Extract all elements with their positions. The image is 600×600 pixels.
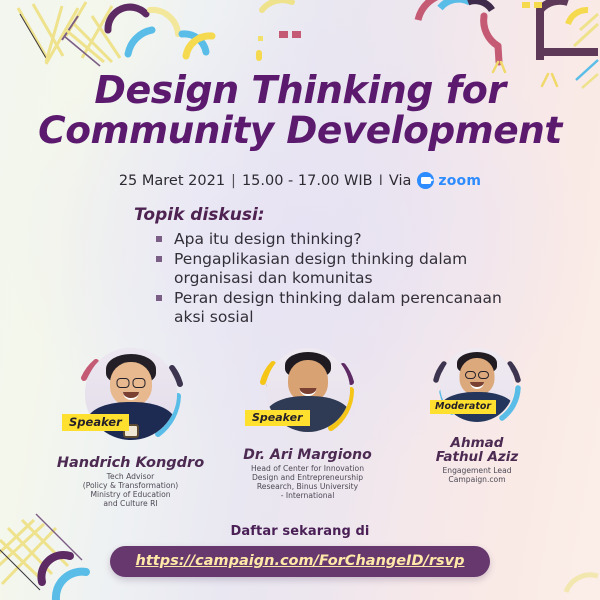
speaker-role-tag-2: Speaker <box>245 410 310 426</box>
topics-heading: Topik diskusi: <box>134 205 514 225</box>
topics-list: Apa itu design thinking? Pengaplikasian … <box>156 230 514 327</box>
datetime-separator-2: I <box>379 173 383 189</box>
speakers-section: Speaker Handrich Kongdro Tech Advisor (P… <box>0 338 600 509</box>
poster-title: Design Thinking for Community Developmen… <box>0 72 600 149</box>
moderator-role: Engagement Lead Campaign.com <box>402 467 552 485</box>
speaker-role-line: and Culture RI <box>48 500 213 509</box>
cta-section: Daftar sekarang di https://campaign.com/… <box>0 524 600 577</box>
moderator-name-line-1: Ahmad <box>402 436 552 450</box>
speaker-photo-wrap-2: Speaker <box>225 338 390 442</box>
speaker-role-2: Head of Center for Innovation Design and… <box>225 465 390 501</box>
zoom-camera-icon <box>417 172 434 189</box>
speaker-photo-wrap-1: Speaker <box>48 338 213 450</box>
moderator-photo-wrap: Moderator <box>402 338 552 430</box>
moderator-name: Ahmad Fathul Aziz <box>402 436 552 465</box>
event-time: 15.00 - 17.00 WIB <box>242 173 373 189</box>
cta-label: Daftar sekarang di <box>0 524 600 539</box>
moderator-role-line: Campaign.com <box>402 476 552 485</box>
speaker-name-1: Handrich Kongdro <box>48 456 213 471</box>
topic-text: Pengaplikasian design thinking dalam org… <box>174 250 467 287</box>
speaker-card-2: Speaker Dr. Ari Margiono Head of Center … <box>225 338 390 501</box>
speaker-role-1: Tech Advisor (Policy & Transformation) M… <box>48 473 213 509</box>
bullet-square-icon <box>156 236 162 242</box>
registration-url-button[interactable]: https://campaign.com/ForChangeID/rsvp <box>110 546 491 577</box>
event-datetime-bar: 25 Maret 2021 | 15.00 - 17.00 WIB I Via … <box>0 172 600 189</box>
topic-text: Apa itu design thinking? <box>174 230 362 248</box>
topics-section: Topik diskusi: Apa itu design thinking? … <box>134 205 514 328</box>
topic-item: Peran design thinking dalam perencanaan … <box>156 289 514 327</box>
poster-canvas: Design Thinking for Community Developmen… <box>0 0 600 600</box>
via-label: Via <box>389 173 412 189</box>
bullet-square-icon <box>156 295 162 301</box>
speaker-role-line: - International <box>225 492 390 501</box>
speaker-name-2: Dr. Ari Margiono <box>225 448 390 463</box>
topic-item: Pengaplikasian design thinking dalam org… <box>156 250 514 288</box>
moderator-card: Moderator Ahmad Fathul Aziz Engagement L… <box>402 338 552 485</box>
speaker-card-1: Speaker Handrich Kongdro Tech Advisor (P… <box>48 338 213 509</box>
speaker-role-tag-1: Speaker <box>62 414 129 431</box>
moderator-name-line-2: Fathul Aziz <box>402 450 552 464</box>
datetime-separator-1: | <box>231 173 236 189</box>
title-line-1: Design Thinking for <box>0 72 600 110</box>
zoom-platform-badge: zoom <box>417 172 481 189</box>
event-date: 25 Maret 2021 <box>119 173 225 189</box>
topic-text: Peran design thinking dalam perencanaan … <box>174 289 502 326</box>
title-line-2: Community Development <box>0 112 600 149</box>
bullet-square-icon <box>156 256 162 262</box>
zoom-wordmark: zoom <box>438 173 481 189</box>
moderator-role-tag: Moderator <box>430 400 496 414</box>
topic-item: Apa itu design thinking? <box>156 230 514 249</box>
